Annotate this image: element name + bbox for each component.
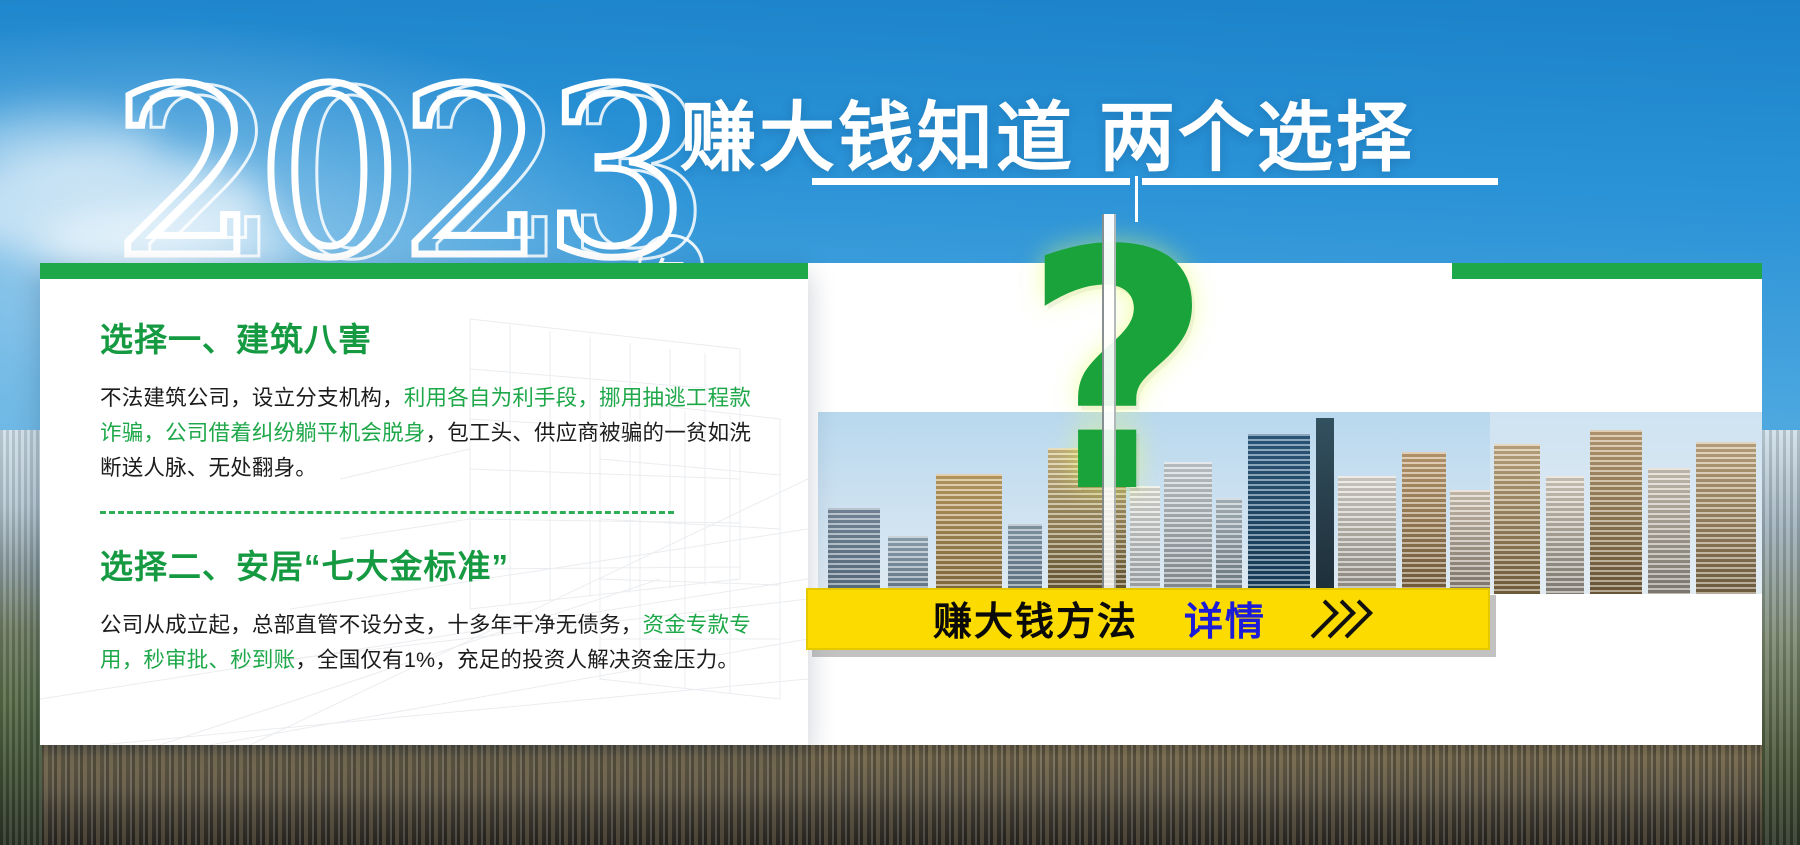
building-shape [828,508,880,594]
building-shape [1402,452,1446,594]
section-choice-one: 选择一、建筑八害 不法建筑公司，设立分支机构，利用各自为利手段，挪用抽逃工程款诈… [100,313,762,485]
content-card: 选择一、建筑八害 不法建筑公司，设立分支机构，利用各自为利手段，挪用抽逃工程款诈… [40,263,808,745]
building-shape [936,474,1002,594]
section-divider [100,511,674,514]
building-shape [1216,498,1242,594]
cta-detail-link[interactable]: 详情 [1184,591,1266,647]
building-shape [1316,418,1334,594]
building-shape [1338,476,1396,594]
section-two-title: 选择二、安居“七大金标准” [100,540,762,588]
section-two-body: 公司从成立起，总部直管不设分支，十多年干净无债务，资金专款专用，秒审批、秒到账，… [100,608,762,678]
building-shape [1248,434,1310,594]
poster-root: 2023 2023 年 赚大钱知道两个选择 TWO choices [0,0,1800,845]
cta-banner[interactable]: 赚大钱方法 详情 [806,588,1490,650]
building-shape [1590,430,1642,594]
right-city-photo [1490,412,1762,594]
body-run: 不法建筑公司，设立分支机构， [100,386,404,410]
right-photo-strip [1762,430,1800,845]
section-one-body: 不法建筑公司，设立分支机构，利用各自为利手段，挪用抽逃工程款诈骗，公司借着纠纷躺… [100,381,762,485]
cta-main-label: 赚大钱方法 [933,591,1138,647]
building-shape [1494,444,1540,594]
building-shape [1648,468,1690,594]
body-run: ，全国仅有1%，充足的投资人解决资金压力。 [295,648,739,672]
section-choice-two: 选择二、安居“七大金标准” 公司从成立起，总部直管不设分支，十多年干净无债务，资… [100,540,762,678]
left-photo-strip [0,430,42,845]
building-shape [888,536,928,594]
section-one-title: 选择一、建筑八害 [100,313,762,361]
building-shape [1450,490,1490,594]
question-mark-slot-decoration [1102,214,1116,604]
card-content: 选择一、建筑八害 不法建筑公司，设立分支机构，利用各自为利手段，挪用抽逃工程款诈… [40,263,808,678]
body-run: 公司从成立起，总部直管不设分支，十多年干净无债务， [100,613,643,637]
poster-headline: 赚大钱知道两个选择 [680,76,1415,186]
building-shape [1546,476,1584,594]
right-green-bar [1452,263,1762,279]
question-mark-icon: ? [1022,208,1213,538]
headline-part-2: 两个选择 [1099,96,1415,181]
headline-part-1: 赚大钱知道 [680,96,1075,181]
chevron-right-icon [1314,601,1363,637]
building-shape [1696,442,1756,594]
